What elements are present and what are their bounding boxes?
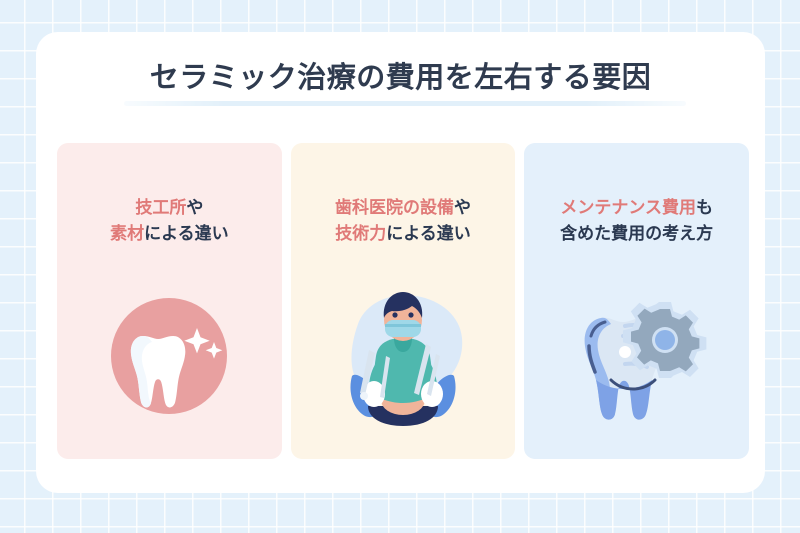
content-panel: セラミック治療の費用を左右する要因 技工所や 素材による違い (36, 32, 765, 493)
card2-illustration (291, 281, 516, 431)
card-title-laboratory-material: 技工所や 素材による違い (57, 195, 282, 248)
factor-card-laboratory-material[interactable]: 技工所や 素材による違い (57, 143, 282, 459)
tooth-with-gear-icon (567, 290, 707, 422)
sparkling-tooth-icon (99, 286, 239, 426)
card1-illustration (57, 281, 282, 431)
card3-line1-highlight: メンテナンス費用 (560, 198, 696, 217)
title-underline (124, 101, 686, 106)
card-title-maintenance-cost: メンテナンス費用も 含めた費用の考え方 (524, 195, 749, 248)
card1-line1-highlight: 技工所 (135, 198, 186, 217)
card1-line2-rest: による違い (144, 224, 229, 243)
card2-line2-highlight: 技術力 (335, 224, 386, 243)
card2-line2-rest: による違い (386, 224, 471, 243)
card2-line1-highlight: 歯科医院の設備 (335, 198, 454, 217)
factor-card-list: 技工所や 素材による違い 歯科医院の設備や 技術力 (57, 143, 749, 459)
poster-background: セラミック治療の費用を左右する要因 技工所や 素材による違い (0, 0, 800, 533)
card3-line1-rest: も (696, 198, 713, 217)
factor-card-clinic-equipment[interactable]: 歯科医院の設備や 技術力による違い (291, 143, 516, 459)
card1-line2-highlight: 素材 (110, 224, 144, 243)
dentist-treating-patient-icon (328, 284, 478, 429)
card-title-clinic-equipment: 歯科医院の設備や 技術力による違い (291, 195, 516, 248)
factor-card-maintenance-cost[interactable]: メンテナンス費用も 含めた費用の考え方 (524, 143, 749, 459)
card1-line1-rest: や (186, 198, 203, 217)
card2-line1-rest: や (454, 198, 471, 217)
card3-line2-rest: 含めた費用の考え方 (560, 224, 713, 243)
card3-illustration (524, 281, 749, 431)
page-title: セラミック治療の費用を左右する要因 (36, 54, 765, 96)
